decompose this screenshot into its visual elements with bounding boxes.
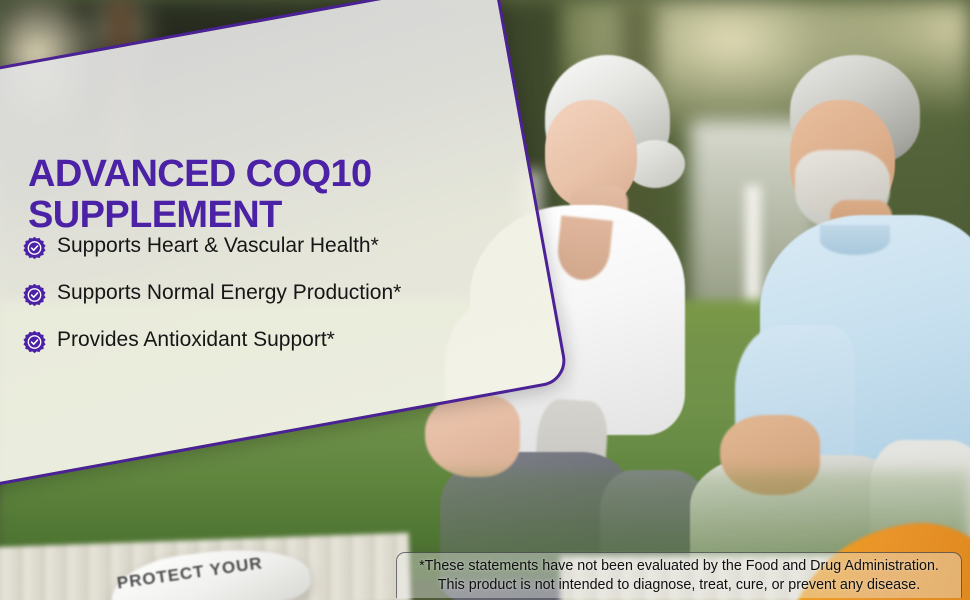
info-panel-card: [0, 0, 570, 493]
man-collar: [820, 225, 890, 255]
info-panel-wrapper: [0, 88, 500, 498]
product-banner: PROTECT YOUR ADVANCED COQ10 SUPPLEMENT S…: [0, 0, 970, 600]
fda-disclaimer-box: *These statements have not been evaluate…: [396, 552, 962, 598]
fda-disclaimer-text: *These statements have not been evaluate…: [397, 557, 961, 594]
